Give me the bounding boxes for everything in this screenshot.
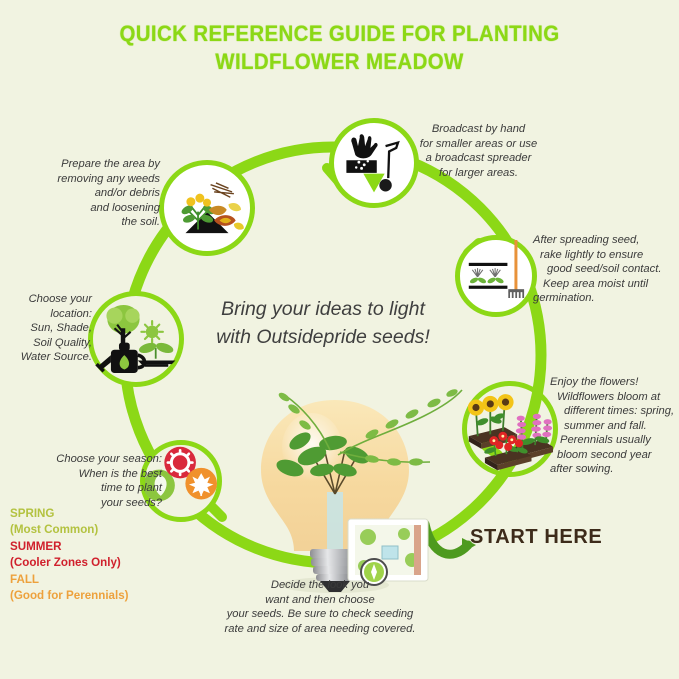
page-title: QUICK REFERENCE GUIDE FOR PLANTING WILDF…	[24, 20, 655, 76]
lightbulb-graphic	[261, 388, 462, 593]
season-summer-name: SUMMER	[10, 539, 172, 555]
caption-choose-season: Choose your season: When is the best tim…	[10, 452, 162, 510]
season-summer-note: (Cooler Zones Only)	[10, 555, 172, 571]
flower-beds-icon	[467, 386, 553, 472]
season-fall-note: (Good for Perennials)	[10, 588, 172, 604]
weeds-debris-icon	[164, 165, 250, 251]
tagline-line-2: with Outsidepride seeds!	[178, 324, 468, 352]
center-tagline: Bring your ideas to light with Outsidepr…	[178, 296, 468, 351]
rake-icon	[460, 240, 532, 312]
step-node-choose-location[interactable]	[88, 291, 184, 387]
caption-choose-location: Choose your location: Sun, Shade, Soil Q…	[4, 292, 92, 365]
tagline-line-1: Bring your ideas to light	[178, 296, 468, 324]
title-line-1: QUICK REFERENCE GUIDE FOR PLANTING	[24, 20, 655, 48]
location-conditions-icon	[93, 296, 179, 382]
start-here-label: START HERE	[470, 526, 602, 549]
title-line-2: WILDFLOWER MEADOW	[24, 48, 655, 76]
caption-enjoy-flowers: Enjoy the flowers! Wildflowers bloom at …	[550, 375, 679, 477]
garden-plan-icon	[348, 519, 428, 585]
season-spring-note: (Most Common)	[10, 522, 172, 538]
season-fall-name: FALL	[10, 572, 172, 588]
step-node-enjoy-flowers[interactable]	[462, 381, 558, 477]
caption-broadcast-seed: Broadcast by hand for smaller areas or u…	[396, 122, 561, 180]
caption-prepare-area: Prepare the area by removing any weeds a…	[28, 157, 160, 230]
caption-rake-seed: After spreading seed, rake lightly to en…	[533, 233, 679, 306]
step-node-prepare-area[interactable]	[159, 160, 255, 256]
caption-decide-look: Decide the look you want and then choose…	[172, 578, 468, 636]
season-spring-name: SPRING	[10, 506, 172, 522]
infographic-canvas: QUICK REFERENCE GUIDE FOR PLANTING WILDF…	[0, 0, 679, 679]
start-here-arrow	[425, 524, 476, 554]
season-legend: SPRING (Most Common) SUMMER (Cooler Zone…	[10, 506, 172, 605]
